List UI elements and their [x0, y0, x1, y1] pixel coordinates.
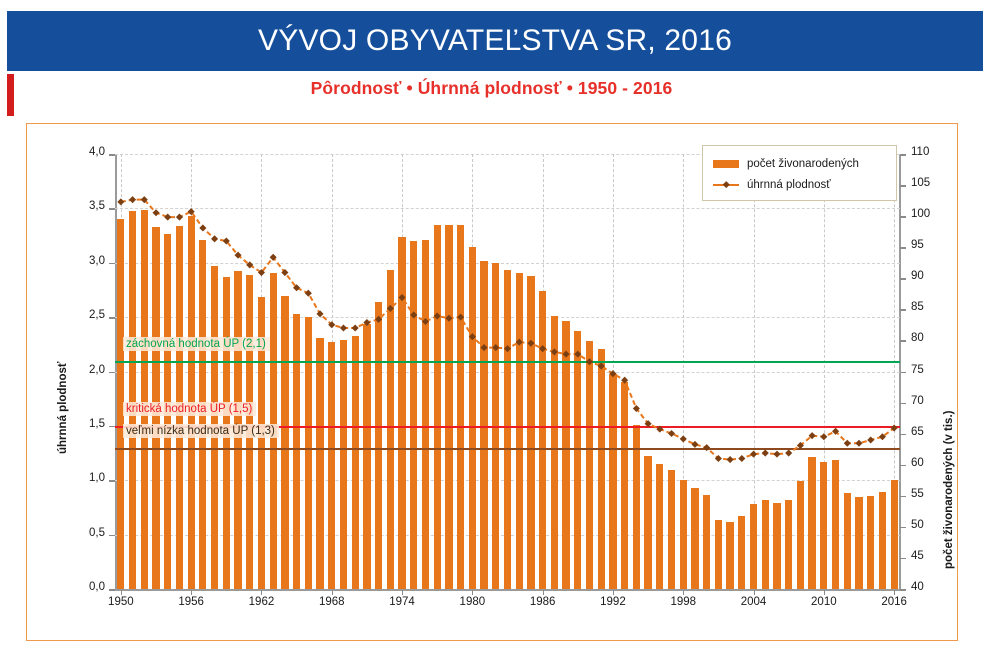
y-axis-right-label: 100: [911, 208, 930, 220]
y-axis-right-tick: [900, 154, 906, 156]
y-axis-right-label: 50: [911, 519, 924, 531]
x-axis-label: 1998: [670, 596, 696, 608]
y-axis-right-label: 80: [911, 332, 924, 344]
x-axis-label: 1956: [178, 596, 204, 608]
y-axis-right-label: 95: [911, 239, 924, 251]
y-axis-right-tick: [900, 340, 906, 342]
x-axis-tick: [121, 590, 122, 595]
y-axis-left-label: 0,5: [57, 527, 105, 539]
legend-item-bars: počet živonarodených: [713, 153, 896, 174]
y-axis-right-label: 90: [911, 270, 924, 282]
legend-label-bars: počet živonarodených: [747, 158, 859, 170]
page-title: VÝVOJ OBYVATEĽSTVA SR, 2016: [258, 24, 732, 58]
x-axis-label: 2004: [741, 596, 767, 608]
page-root: VÝVOJ OBYVATEĽSTVA SR, 2016 Pôrodnosť • …: [0, 0, 983, 654]
x-axis-tick: [332, 590, 333, 595]
y-axis-right-label: 105: [911, 177, 930, 189]
y-axis-right-tick: [900, 309, 906, 311]
reference-label-zachovna: záchovná hodnota ÚP (2,1): [123, 337, 270, 351]
x-axis-tick: [894, 590, 895, 595]
x-axis-label: 1962: [249, 596, 275, 608]
x-axis-label: 1950: [108, 596, 134, 608]
x-axis-label: 2010: [811, 596, 837, 608]
y-axis-right-label: 70: [911, 395, 924, 407]
legend-item-line: úhrnná plodnosť: [713, 174, 896, 195]
y-axis-right-label: 40: [911, 581, 924, 593]
line-swatch-icon: [713, 180, 739, 189]
y-axis-right-label: 75: [911, 364, 924, 376]
page-subtitle: Pôrodnosť • Úhrnná plodnosť • 1950 - 201…: [0, 78, 983, 99]
y-axis-left-label: 3,5: [57, 200, 105, 212]
reference-label-kriticka: kritická hodnota ÚP (1,5): [123, 402, 256, 416]
y-axis-right-tick: [900, 247, 906, 249]
x-axis-label: 1968: [319, 596, 345, 608]
y-axis-right-tick: [900, 372, 906, 374]
y-axis-left-label: 0,0: [57, 581, 105, 593]
y-axis-left-label: 2,5: [57, 309, 105, 321]
x-axis-tick: [261, 590, 262, 595]
x-axis-tick: [824, 590, 825, 595]
y-axis-right-label: 45: [911, 550, 924, 562]
y-axis-right-title: počet živonarodených (v tis.): [943, 411, 955, 569]
y-axis-left-tick: [109, 589, 115, 591]
x-axis-label: 2016: [881, 596, 907, 608]
y-axis-right-label: 85: [911, 301, 924, 313]
chart-frame: úhrnná plodnosť počet živonarodených (v …: [26, 123, 958, 641]
y-axis-right-tick: [900, 278, 906, 280]
x-axis-tick: [191, 590, 192, 595]
x-axis-tick: [543, 590, 544, 595]
y-axis-right-label: 110: [911, 146, 929, 158]
y-axis-left-label: 4,0: [57, 146, 105, 158]
y-axis-left-label: 1,0: [57, 472, 105, 484]
y-axis-right-tick: [900, 434, 906, 436]
y-axis-right-tick: [900, 185, 906, 187]
x-axis-tick: [402, 590, 403, 595]
x-axis-label: 1974: [389, 596, 415, 608]
y-axis-right-tick: [900, 589, 906, 591]
y-axis-left-label: 3,0: [57, 255, 105, 267]
legend-label-line: úhrnná plodnosť: [747, 179, 831, 191]
y-axis-left-label: 2,0: [57, 364, 105, 376]
y-axis-right-tick: [900, 403, 906, 405]
y-axis-right-label: 65: [911, 426, 924, 438]
bar-swatch-icon: [713, 160, 739, 168]
reference-label-velmi-nizka: veľmi nízka hodnota ÚP (1,3): [123, 424, 279, 438]
y-axis-right-tick: [900, 465, 906, 467]
x-axis-label: 1992: [600, 596, 626, 608]
y-axis-right-tick: [900, 558, 906, 560]
y-axis-left-label: 1,5: [57, 418, 105, 430]
x-axis-tick: [472, 590, 473, 595]
chart-legend: počet živonarodených úhrnná plodnosť: [702, 145, 897, 201]
plot-area: záchovná hodnota ÚP (2,1)kritická hodnot…: [115, 154, 900, 589]
y-axis-right-tick: [900, 216, 906, 218]
x-axis-tick: [754, 590, 755, 595]
y-axis-right-label: 60: [911, 457, 924, 469]
title-bar: VÝVOJ OBYVATEĽSTVA SR, 2016: [7, 11, 983, 71]
x-axis-tick: [683, 590, 684, 595]
y-axis-right-tick: [900, 496, 906, 498]
x-axis-tick: [613, 590, 614, 595]
reference-line-labels: záchovná hodnota ÚP (2,1)kritická hodnot…: [115, 154, 900, 589]
x-axis-label: 1986: [530, 596, 556, 608]
y-axis-right-label: 55: [911, 488, 924, 500]
x-axis-line: [115, 589, 901, 591]
x-axis-label: 1980: [460, 596, 486, 608]
y-axis-right-tick: [900, 527, 906, 529]
